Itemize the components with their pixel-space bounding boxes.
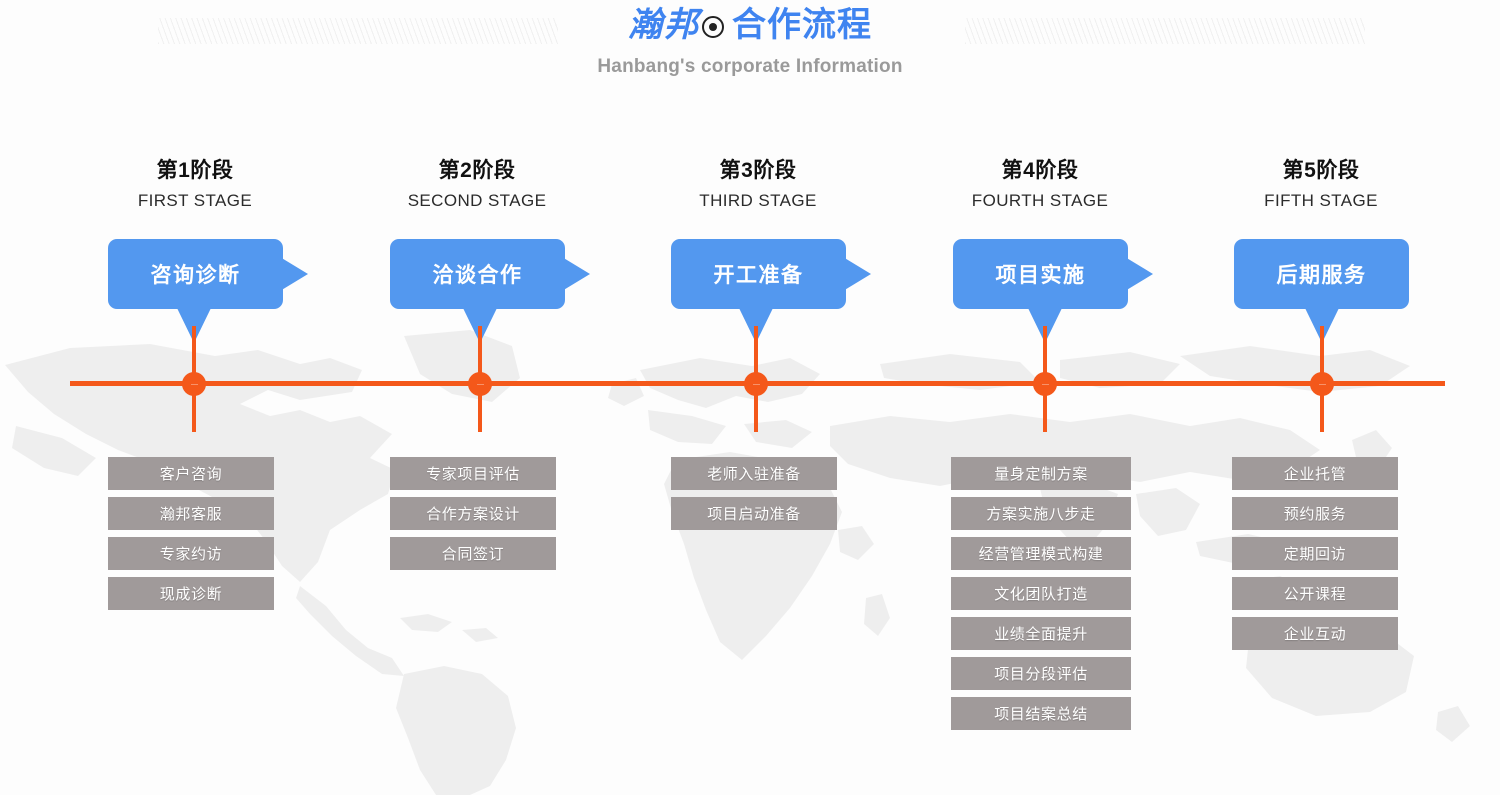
timeline-dot-icon-3[interactable] <box>744 372 768 396</box>
list-item[interactable]: 项目启动准备 <box>671 497 837 530</box>
list-item[interactable]: 经营管理模式构建 <box>951 537 1131 570</box>
timeline-dot-icon-5[interactable] <box>1310 372 1334 396</box>
stage-title-cn-4: 第4阶段 <box>925 158 1155 183</box>
timeline-dot-icon-2[interactable] <box>468 372 492 396</box>
bubble-arrow-icon-4 <box>1125 257 1153 291</box>
stage-column-5: 第5阶段FIFTH STAGE后期服务 <box>1206 158 1436 343</box>
stage-title-cn-3: 第3阶段 <box>643 158 873 183</box>
list-item[interactable]: 公开课程 <box>1232 577 1398 610</box>
bubble-body-2: 洽谈合作 <box>390 239 565 309</box>
stage-title-cn-2: 第2阶段 <box>362 158 592 183</box>
brand-name: 瀚邦 <box>628 6 700 44</box>
stage-title-en-3: THIRD STAGE <box>643 191 873 211</box>
list-item[interactable]: 定期回访 <box>1232 537 1398 570</box>
stage-title-cn-1: 第1阶段 <box>80 158 310 183</box>
bubble-body-5: 后期服务 <box>1234 239 1409 309</box>
stage-item-list-4: 量身定制方案方案实施八步走经营管理模式构建文化团队打造业绩全面提升项目分段评估项… <box>951 457 1131 737</box>
stage-column-1: 第1阶段FIRST STAGE咨询诊断 <box>80 158 310 343</box>
list-item[interactable]: 预约服务 <box>1232 497 1398 530</box>
list-item[interactable]: 专家项目评估 <box>390 457 556 490</box>
list-item[interactable]: 客户咨询 <box>108 457 274 490</box>
bubble-body-3: 开工准备 <box>671 239 846 309</box>
list-item[interactable]: 合作方案设计 <box>390 497 556 530</box>
page-subtitle: Hanbang's corporate Information <box>0 56 1500 78</box>
list-item[interactable]: 方案实施八步走 <box>951 497 1131 530</box>
stage-title-en-2: SECOND STAGE <box>362 191 592 211</box>
stage-title-cn-5: 第5阶段 <box>1206 158 1436 183</box>
page-header: 瀚邦合作流程 Hanbang's corporate Information <box>0 0 1500 110</box>
bubble-label-4: 项目实施 <box>996 259 1086 289</box>
stage-title-en-4: FOURTH STAGE <box>925 191 1155 211</box>
stage-item-list-2: 专家项目评估合作方案设计合同签订 <box>390 457 556 577</box>
stage-item-list-3: 老师入驻准备项目启动准备 <box>671 457 837 537</box>
infographic-canvas: 瀚邦合作流程 Hanbang's corporate Information 第… <box>0 0 1500 795</box>
list-item[interactable]: 老师入驻准备 <box>671 457 837 490</box>
list-item[interactable]: 合同签订 <box>390 537 556 570</box>
stage-item-list-5: 企业托管预约服务定期回访公开课程企业互动 <box>1232 457 1398 657</box>
bubble-label-2: 洽谈合作 <box>433 259 523 289</box>
list-item[interactable]: 企业互动 <box>1232 617 1398 650</box>
stage-column-2: 第2阶段SECOND STAGE洽谈合作 <box>362 158 592 343</box>
bubble-body-1: 咨询诊断 <box>108 239 283 309</box>
stage-title-en-5: FIFTH STAGE <box>1206 191 1436 211</box>
list-item[interactable]: 文化团队打造 <box>951 577 1131 610</box>
list-item[interactable]: 现成诊断 <box>108 577 274 610</box>
bubble-arrow-icon-1 <box>280 257 308 291</box>
stage-bubble-3[interactable]: 开工准备 <box>643 239 873 343</box>
page-title: 瀚邦合作流程 <box>0 8 1500 42</box>
stage-column-4: 第4阶段FOURTH STAGE项目实施 <box>925 158 1155 343</box>
bubble-label-3: 开工准备 <box>714 259 804 289</box>
stage-bubble-2[interactable]: 洽谈合作 <box>362 239 592 343</box>
title-rest: 合作流程 <box>732 6 872 44</box>
timeline-dot-icon-4[interactable] <box>1033 372 1057 396</box>
list-item[interactable]: 企业托管 <box>1232 457 1398 490</box>
list-item[interactable]: 业绩全面提升 <box>951 617 1131 650</box>
list-item[interactable]: 量身定制方案 <box>951 457 1131 490</box>
stage-title-en-1: FIRST STAGE <box>80 191 310 211</box>
bubble-label-1: 咨询诊断 <box>151 259 241 289</box>
stage-bubble-4[interactable]: 项目实施 <box>925 239 1155 343</box>
circle-target-icon <box>702 16 724 38</box>
bubble-arrow-icon-3 <box>843 257 871 291</box>
list-item[interactable]: 项目分段评估 <box>951 657 1131 690</box>
list-item[interactable]: 专家约访 <box>108 537 274 570</box>
stage-column-3: 第3阶段THIRD STAGE开工准备 <box>643 158 873 343</box>
list-item[interactable]: 瀚邦客服 <box>108 497 274 530</box>
bubble-arrow-icon-2 <box>562 257 590 291</box>
bubble-body-4: 项目实施 <box>953 239 1128 309</box>
timeline-dot-icon-1[interactable] <box>182 372 206 396</box>
stage-item-list-1: 客户咨询瀚邦客服专家约访现成诊断 <box>108 457 274 617</box>
list-item[interactable]: 项目结案总结 <box>951 697 1131 730</box>
bubble-label-5: 后期服务 <box>1277 259 1367 289</box>
